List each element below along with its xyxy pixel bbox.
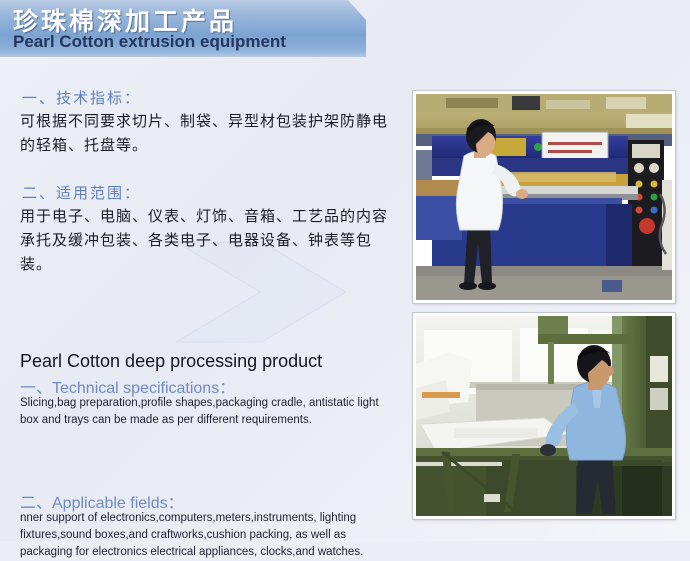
section-body-applicable-fields-cn: 用于电子、电脑、仪表、灯饰、音箱、工艺品的内容承托及缓冲包装、各类电子、电器设备… <box>20 204 390 276</box>
banner-title-english: Pearl Cotton extrusion equipment <box>13 32 286 52</box>
photo-foam-machine-inner <box>416 316 672 516</box>
photo-cutting-machine-inner <box>416 94 672 300</box>
photo-foam-sheet-machine-operator <box>413 313 675 519</box>
content-text-column: 一、技术指标： 可根据不同要求切片、制袋、异型材包装护架防静电的轻箱、托盘等。 … <box>0 57 400 541</box>
photo-cutting-machine-operator <box>413 91 675 303</box>
section-body-technical-specs-en: Slicing,bag preparation,profile shapes,p… <box>20 395 380 429</box>
page-root: 珍珠棉深加工产品 Pearl Cotton extrusion equipmen… <box>0 0 690 541</box>
section-heading-technical-specs-cn: 一、技术指标： <box>22 87 141 108</box>
english-product-title: Pearl Cotton deep processing product <box>20 351 322 372</box>
section-body-technical-specs-cn: 可根据不同要求切片、制袋、异型材包装护架防静电的轻箱、托盘等。 <box>20 109 390 157</box>
section-body-applicable-fields-en: nner support of electronics,computers,me… <box>20 510 380 561</box>
section-heading-applicable-fields-cn: 二、适用范围： <box>22 182 141 203</box>
